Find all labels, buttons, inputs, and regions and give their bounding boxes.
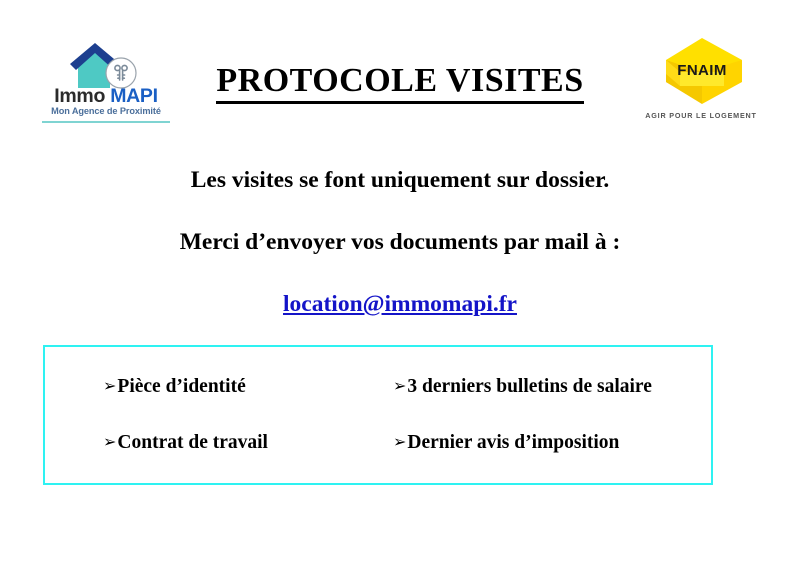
required-documents-box: ➢ Pièce d’identité ➢ 3 derniers bulletin… [43,345,713,485]
arrow-bullet-icon: ➢ [393,378,406,394]
arrow-bullet-icon: ➢ [393,434,406,450]
list-item-label: Contrat de travail [117,432,268,454]
page-title: PROTOCOLE VISITES [0,62,800,104]
email-line: location@immomapi.fr [0,291,800,318]
arrow-bullet-icon: ➢ [103,434,116,450]
email-link[interactable]: location@immomapi.fr [283,291,517,317]
immomapi-tagline: Mon Agence de Proximité [36,106,176,116]
fnaim-tagline-container: AGIR POUR LE LOGEMENT [640,106,762,124]
paragraph-visits-by-file: Les visites se font uniquement sur dossi… [0,167,800,194]
list-item: ➢ Contrat de travail [103,432,393,454]
list-item-label: Pièce d’identité [117,376,245,398]
document-page: Immo MAPI Mon Agence de Proximité FNAIM [0,0,800,565]
arrow-bullet-icon: ➢ [103,378,116,394]
list-item: ➢ 3 derniers bulletins de salaire [393,376,711,398]
paragraph-send-documents: Merci d’envoyer vos documents par mail à… [0,229,800,256]
list-item-label: Dernier avis d’imposition [407,432,619,454]
list-item-label: 3 derniers bulletins de salaire [407,376,651,398]
list-item: ➢ Dernier avis d’imposition [393,432,711,454]
list-item: ➢ Pièce d’identité [103,376,393,398]
page-title-text: PROTOCOLE VISITES [216,62,583,104]
fnaim-tagline: AGIR POUR LE LOGEMENT [639,111,762,120]
required-documents-grid: ➢ Pièce d’identité ➢ 3 derniers bulletin… [45,347,711,483]
immomapi-underline-rule [42,121,170,123]
